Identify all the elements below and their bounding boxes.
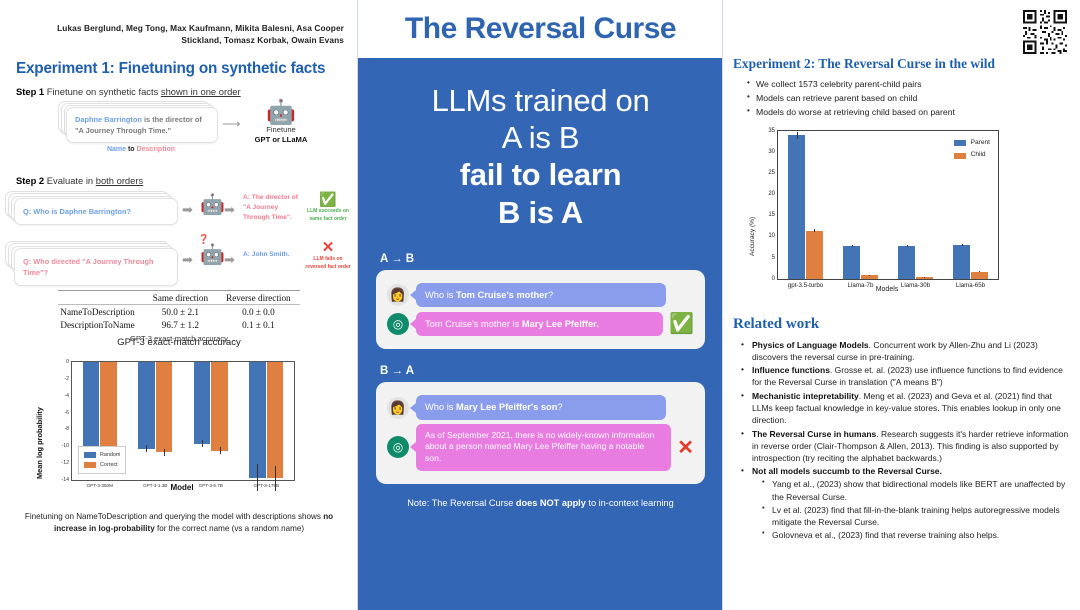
finetune-target: 🤖 Finetune GPT or LLaMA xyxy=(252,101,310,146)
incontext-note: Note: The Reversal Curse does NOT apply … xyxy=(358,498,723,508)
qr-code[interactable] xyxy=(1020,8,1070,56)
list-item: We collect 1573 celebrity parent-child p… xyxy=(747,78,1070,92)
bar xyxy=(100,362,117,455)
ba-section: B → A 👩 Who is Mary Lee Pfeiffer's son? … xyxy=(358,365,723,483)
list-item: Models do worse at retrieving child base… xyxy=(747,106,1070,120)
msg-bold: Mary Lee Pfeiffer. xyxy=(522,319,599,329)
left-column: Lukas Berglund, Meg Tong, Max Kaufmann, … xyxy=(0,0,358,610)
note-part-b: does NOT apply xyxy=(516,498,586,508)
chart-title: GPT-3 exact-match accuracy xyxy=(29,337,329,348)
msg-bold: Tom Cruise's mother xyxy=(456,290,548,300)
error-bar xyxy=(907,245,908,248)
y-tick: 5 xyxy=(772,255,775,261)
hero-line-1: LLMs trained on xyxy=(368,82,713,119)
msg-plain: Who is xyxy=(425,290,456,300)
legend-label: Parent xyxy=(971,137,990,150)
chart-legend: RandomCorrect xyxy=(78,446,126,475)
error-bar xyxy=(202,440,203,447)
answer-text-2: A: John Smith. xyxy=(243,250,298,260)
assistant-message: Tom Cruise's mother is Mary Lee Pfeiffer… xyxy=(416,312,663,337)
caption-part-c: for the correct name (vs a random name) xyxy=(155,524,304,533)
legend-swatch xyxy=(954,140,966,146)
plot-area: 0-2-4-6-8-10-12-14GPT-3-350MGPT-3-1.3BGP… xyxy=(71,361,295,481)
finetune-model: GPT or LLaMA xyxy=(255,135,308,144)
hero-line-4: B is A xyxy=(368,194,713,231)
table-row: DescriptionToName 96.7 ± 1.2 0.1 ± 0.1 xyxy=(58,318,299,331)
bar xyxy=(971,272,988,279)
list-item: Models can retrieve parent based on chil… xyxy=(747,92,1070,106)
y-tick: 30 xyxy=(768,149,775,155)
bar xyxy=(788,135,805,278)
y-tick: -4 xyxy=(64,393,69,399)
bar xyxy=(898,246,915,279)
error-bar xyxy=(852,245,853,248)
y-tick: 20 xyxy=(768,191,775,197)
verdict-label-2a: LLM fails on xyxy=(313,256,342,262)
left-logprob-chart: Mean log probability 0-2-4-6-8-10-12-14G… xyxy=(29,353,329,503)
answer-text-1: A: The director of "A Journey Through Ti… xyxy=(243,193,298,223)
caption-name: Name xyxy=(107,146,126,153)
verdict-1: ✅ LLM succeeds on same fact order xyxy=(303,191,353,223)
user-message: Who is Tom Cruise's mother? xyxy=(416,283,666,308)
legend-label: Child xyxy=(971,149,986,162)
main-message-panel: LLMs trained on A is B fail to learn B i… xyxy=(358,58,723,610)
arrow-right-icon: ➡ xyxy=(224,253,235,266)
row-reverse: 0.1 ± 0.1 xyxy=(217,318,300,331)
error-bar xyxy=(164,449,165,456)
related-work-heading: Related work xyxy=(733,316,1080,333)
step2-label: Step 2 xyxy=(16,175,44,186)
fact-card: Daphne Barrington is the director of "A … xyxy=(66,107,218,143)
cross-icon: ✕ xyxy=(303,238,353,256)
results-table: Same direction Reverse direction NameToD… xyxy=(58,290,299,331)
finetune-label: Finetune xyxy=(266,125,296,134)
plot-area: 05101520253035gpt-3.5-turboLlama-7bLlama… xyxy=(777,130,999,280)
error-bar xyxy=(220,447,221,454)
question-card-2: Q: Who directed "A Journey Through Time"… xyxy=(14,248,178,286)
chatgpt-logo-icon: ◎ xyxy=(387,436,409,458)
arrow-right-icon: ➡ xyxy=(182,203,193,216)
y-tick: 0 xyxy=(66,359,69,365)
chart-legend: ParentChild xyxy=(954,137,990,162)
right-column: Experiment 2: The Reversal Curse in the … xyxy=(723,0,1080,610)
cross-icon: ✕ xyxy=(677,435,694,460)
error-bar xyxy=(869,275,870,276)
y-tick: -8 xyxy=(64,426,69,432)
step2-underline: both orders xyxy=(96,175,143,186)
item-bold: Not all models succumb to the Reversal C… xyxy=(752,466,942,476)
verdict-2: ✕ LLM fails on reversed fact order xyxy=(303,238,353,271)
step2-row-reverse-order: Q: Who directed "A Journey Through Time"… xyxy=(0,242,358,284)
bar xyxy=(249,362,266,477)
bar xyxy=(83,362,100,452)
step1-instruction: Step 1 Finetune on synthetic facts shown… xyxy=(16,86,358,97)
y-tick: 0 xyxy=(772,276,775,282)
question-card-stack-1: Q: Who is Daphne Barrington? xyxy=(14,198,176,225)
sub-list-item: Yang et al., (2023) show that bidirectio… xyxy=(762,478,1072,502)
legend-item: Parent xyxy=(954,137,990,150)
center-column: The Reversal Curse LLMs trained on A is … xyxy=(358,0,723,610)
ab-section: A → B 👩 Who is Tom Cruise's mother? ◎ xyxy=(358,253,723,350)
user-avatar-icon: 👩 xyxy=(387,284,409,306)
legend-item: Correct xyxy=(84,460,120,470)
question-text-1: Q: Who is Daphne Barrington? xyxy=(23,207,131,216)
ba-chat-card: 👩 Who is Mary Lee Pfeiffer's son? ◎ As o… xyxy=(376,382,705,483)
arrow-right-icon: ➡ xyxy=(224,203,235,216)
right-accuracy-chart: Accuracy (%) 05101520253035gpt-3.5-turbo… xyxy=(745,126,1025,306)
related-work-list: Physics of Language Models. Concurrent w… xyxy=(741,339,1072,541)
name-to-description-caption: Name to Description xyxy=(66,146,216,153)
y-tick: 25 xyxy=(768,170,775,176)
experiment2-heading: Experiment 2: The Reversal Curse in the … xyxy=(733,56,1080,72)
chart-ylabel: Accuracy (%) xyxy=(749,217,756,256)
related-work-sublist: Yang et al., (2023) show that bidirectio… xyxy=(762,478,1072,540)
error-bar xyxy=(924,277,925,278)
bar xyxy=(211,362,228,451)
sub-list-item: Lv et al. (2023) find that fill-in-the-b… xyxy=(762,504,1072,528)
chart-ylabel: Mean log probability xyxy=(35,407,44,479)
table-col-0 xyxy=(58,291,143,305)
list-item: Physics of Language Models. Concurrent w… xyxy=(741,339,1072,363)
chat-row: ◎ As of September 2021, there is no wide… xyxy=(387,424,694,471)
y-tick: -6 xyxy=(64,410,69,416)
chatgpt-logo-icon: ◎ xyxy=(387,313,409,335)
y-tick: -14 xyxy=(62,477,70,483)
bar xyxy=(194,362,211,444)
caption-part-a: Finetuning on NameToDescription and quer… xyxy=(25,512,323,521)
error-bar xyxy=(962,244,963,247)
bar xyxy=(843,246,860,279)
check-icon: ✅ xyxy=(303,191,353,208)
item-bold: The Reversal Curse in humans xyxy=(752,429,876,439)
question-card-stack-2: Q: Who directed "A Journey Through Time"… xyxy=(14,248,176,286)
table-col-2: Reverse direction xyxy=(217,291,300,305)
legend-swatch xyxy=(84,452,96,458)
list-item: Not all models succumb to the Reversal C… xyxy=(741,465,1072,540)
legend-swatch xyxy=(954,153,966,159)
error-bar xyxy=(814,229,815,232)
bar xyxy=(806,231,823,279)
note-part-c: to in-context learning xyxy=(586,498,674,508)
chart-xlabel: Model xyxy=(71,483,293,492)
legend-item: Child xyxy=(954,149,990,162)
bar xyxy=(953,245,970,279)
legend-label: Correct xyxy=(100,460,118,470)
experiment2-bullets: We collect 1573 celebrity parent-child p… xyxy=(747,78,1070,120)
row-label: NameToDescription xyxy=(58,305,143,319)
row-same: 96.7 ± 1.2 xyxy=(144,318,217,331)
fact-name: Daphne Barrington xyxy=(75,115,142,124)
fact-card-stack: Daphne Barrington is the director of "A … xyxy=(66,107,216,153)
y-tick: 35 xyxy=(768,128,775,134)
legend-label: Random xyxy=(100,450,120,460)
robot-icon: 🤖 xyxy=(200,245,225,265)
row-label: DescriptionToName xyxy=(58,318,143,331)
y-tick: -10 xyxy=(62,443,70,449)
hero-line-2: A is B xyxy=(368,119,713,156)
bar xyxy=(267,362,284,478)
poster: Lukas Berglund, Meg Tong, Max Kaufmann, … xyxy=(0,0,1080,610)
assistant-message: As of September 2021, there is no widely… xyxy=(416,424,671,471)
item-bold: Influence functions xyxy=(752,365,830,375)
chat-row: 👩 Who is Mary Lee Pfeiffer's son? xyxy=(387,395,694,420)
arrow-right-icon: ➡ xyxy=(182,253,193,266)
bar xyxy=(156,362,173,452)
y-tick: -2 xyxy=(64,376,69,382)
table-col-1: Same direction xyxy=(144,291,217,305)
page-title: The Reversal Curse xyxy=(358,12,723,46)
question-text-2: Q: Who directed "A Journey Through Time"… xyxy=(23,257,154,277)
list-item: Influence functions. Grosse et. al. (202… xyxy=(741,364,1072,388)
ab-direction-label: A → B xyxy=(380,253,723,265)
chat-row: 👩 Who is Tom Cruise's mother? xyxy=(387,283,694,308)
check-icon: ✅ xyxy=(669,311,694,336)
step1-label: Step 1 xyxy=(16,86,44,97)
bar xyxy=(138,362,155,449)
error-bar xyxy=(979,271,980,273)
verdict-label-1a: LLM succeeds on xyxy=(307,208,349,214)
y-tick: 10 xyxy=(768,233,775,239)
table-row: NameToDescription 50.0 ± 2.1 0.0 ± 0.0 xyxy=(58,305,299,319)
error-bar xyxy=(797,132,798,139)
msg-tail: ? xyxy=(557,402,562,412)
note-part-a: Note: The Reversal Curse xyxy=(407,498,516,508)
list-item: The Reversal Curse in humans. Research s… xyxy=(741,428,1072,464)
experiment1-heading: Experiment 1: Finetuning on synthetic fa… xyxy=(16,60,358,78)
msg-plain: Who is xyxy=(425,402,456,412)
arrow-right-icon: ⟶ xyxy=(222,117,241,130)
msg-tail: ? xyxy=(548,290,553,300)
msg-plain: Tom Cruise's mother is xyxy=(425,319,522,329)
y-tick: 15 xyxy=(768,212,775,218)
chat-row: ◎ Tom Cruise's mother is Mary Lee Pfeiff… xyxy=(387,311,694,336)
figure-caption: Finetuning on NameToDescription and quer… xyxy=(14,511,344,534)
caption-description: Description xyxy=(137,146,176,153)
step1-underline: shown in one order xyxy=(161,86,241,97)
caption-to: to xyxy=(126,146,137,153)
step1-text: Finetune on synthetic facts xyxy=(47,86,161,97)
robot-icon: 🤖 xyxy=(200,195,225,215)
legend-item: Random xyxy=(84,450,120,460)
robot-icon: 🤖 xyxy=(252,101,310,125)
question-card-1: Q: Who is Daphne Barrington? xyxy=(14,198,178,225)
item-bold: Mechanistic intepretability xyxy=(752,391,859,401)
step2-text: Evaluate in xyxy=(47,175,96,186)
verdict-label-1b: same fact order xyxy=(309,216,346,222)
author-list: Lukas Berglund, Meg Tong, Max Kaufmann, … xyxy=(18,22,344,46)
msg-bold: Mary Lee Pfeiffer's son xyxy=(456,402,557,412)
step1-diagram: Daphne Barrington is the director of "A … xyxy=(0,101,358,167)
user-message: Who is Mary Lee Pfeiffer's son? xyxy=(416,395,666,420)
step2-instruction: Step 2 Evaluate in both orders xyxy=(16,175,358,186)
y-tick: -12 xyxy=(62,460,70,466)
sub-list-item: Golovneva et al., (2023) find that rever… xyxy=(762,529,1072,541)
step2-row-same-order: Q: Who is Daphne Barrington? ➡ 🤖 ➡ A: Th… xyxy=(0,192,358,234)
error-bar xyxy=(146,445,147,452)
list-item: Mechanistic intepretability. Meng et al.… xyxy=(741,390,1072,426)
hero-line-3: fail to learn xyxy=(368,156,713,193)
verdict-label-2b: reversed fact order xyxy=(305,264,350,270)
ab-chat-card: 👩 Who is Tom Cruise's mother? ◎ Tom Crui… xyxy=(376,270,705,350)
ba-direction-label: B → A xyxy=(380,365,723,377)
user-avatar-icon: 👩 xyxy=(387,397,409,419)
row-same: 50.0 ± 2.1 xyxy=(144,305,217,319)
item-bold: Physics of Language Models xyxy=(752,340,869,350)
hero-message: LLMs trained on A is B fail to learn B i… xyxy=(358,58,723,231)
chart-xlabel: Models xyxy=(777,286,997,293)
legend-swatch xyxy=(84,462,96,468)
row-reverse: 0.0 ± 0.0 xyxy=(217,305,300,319)
